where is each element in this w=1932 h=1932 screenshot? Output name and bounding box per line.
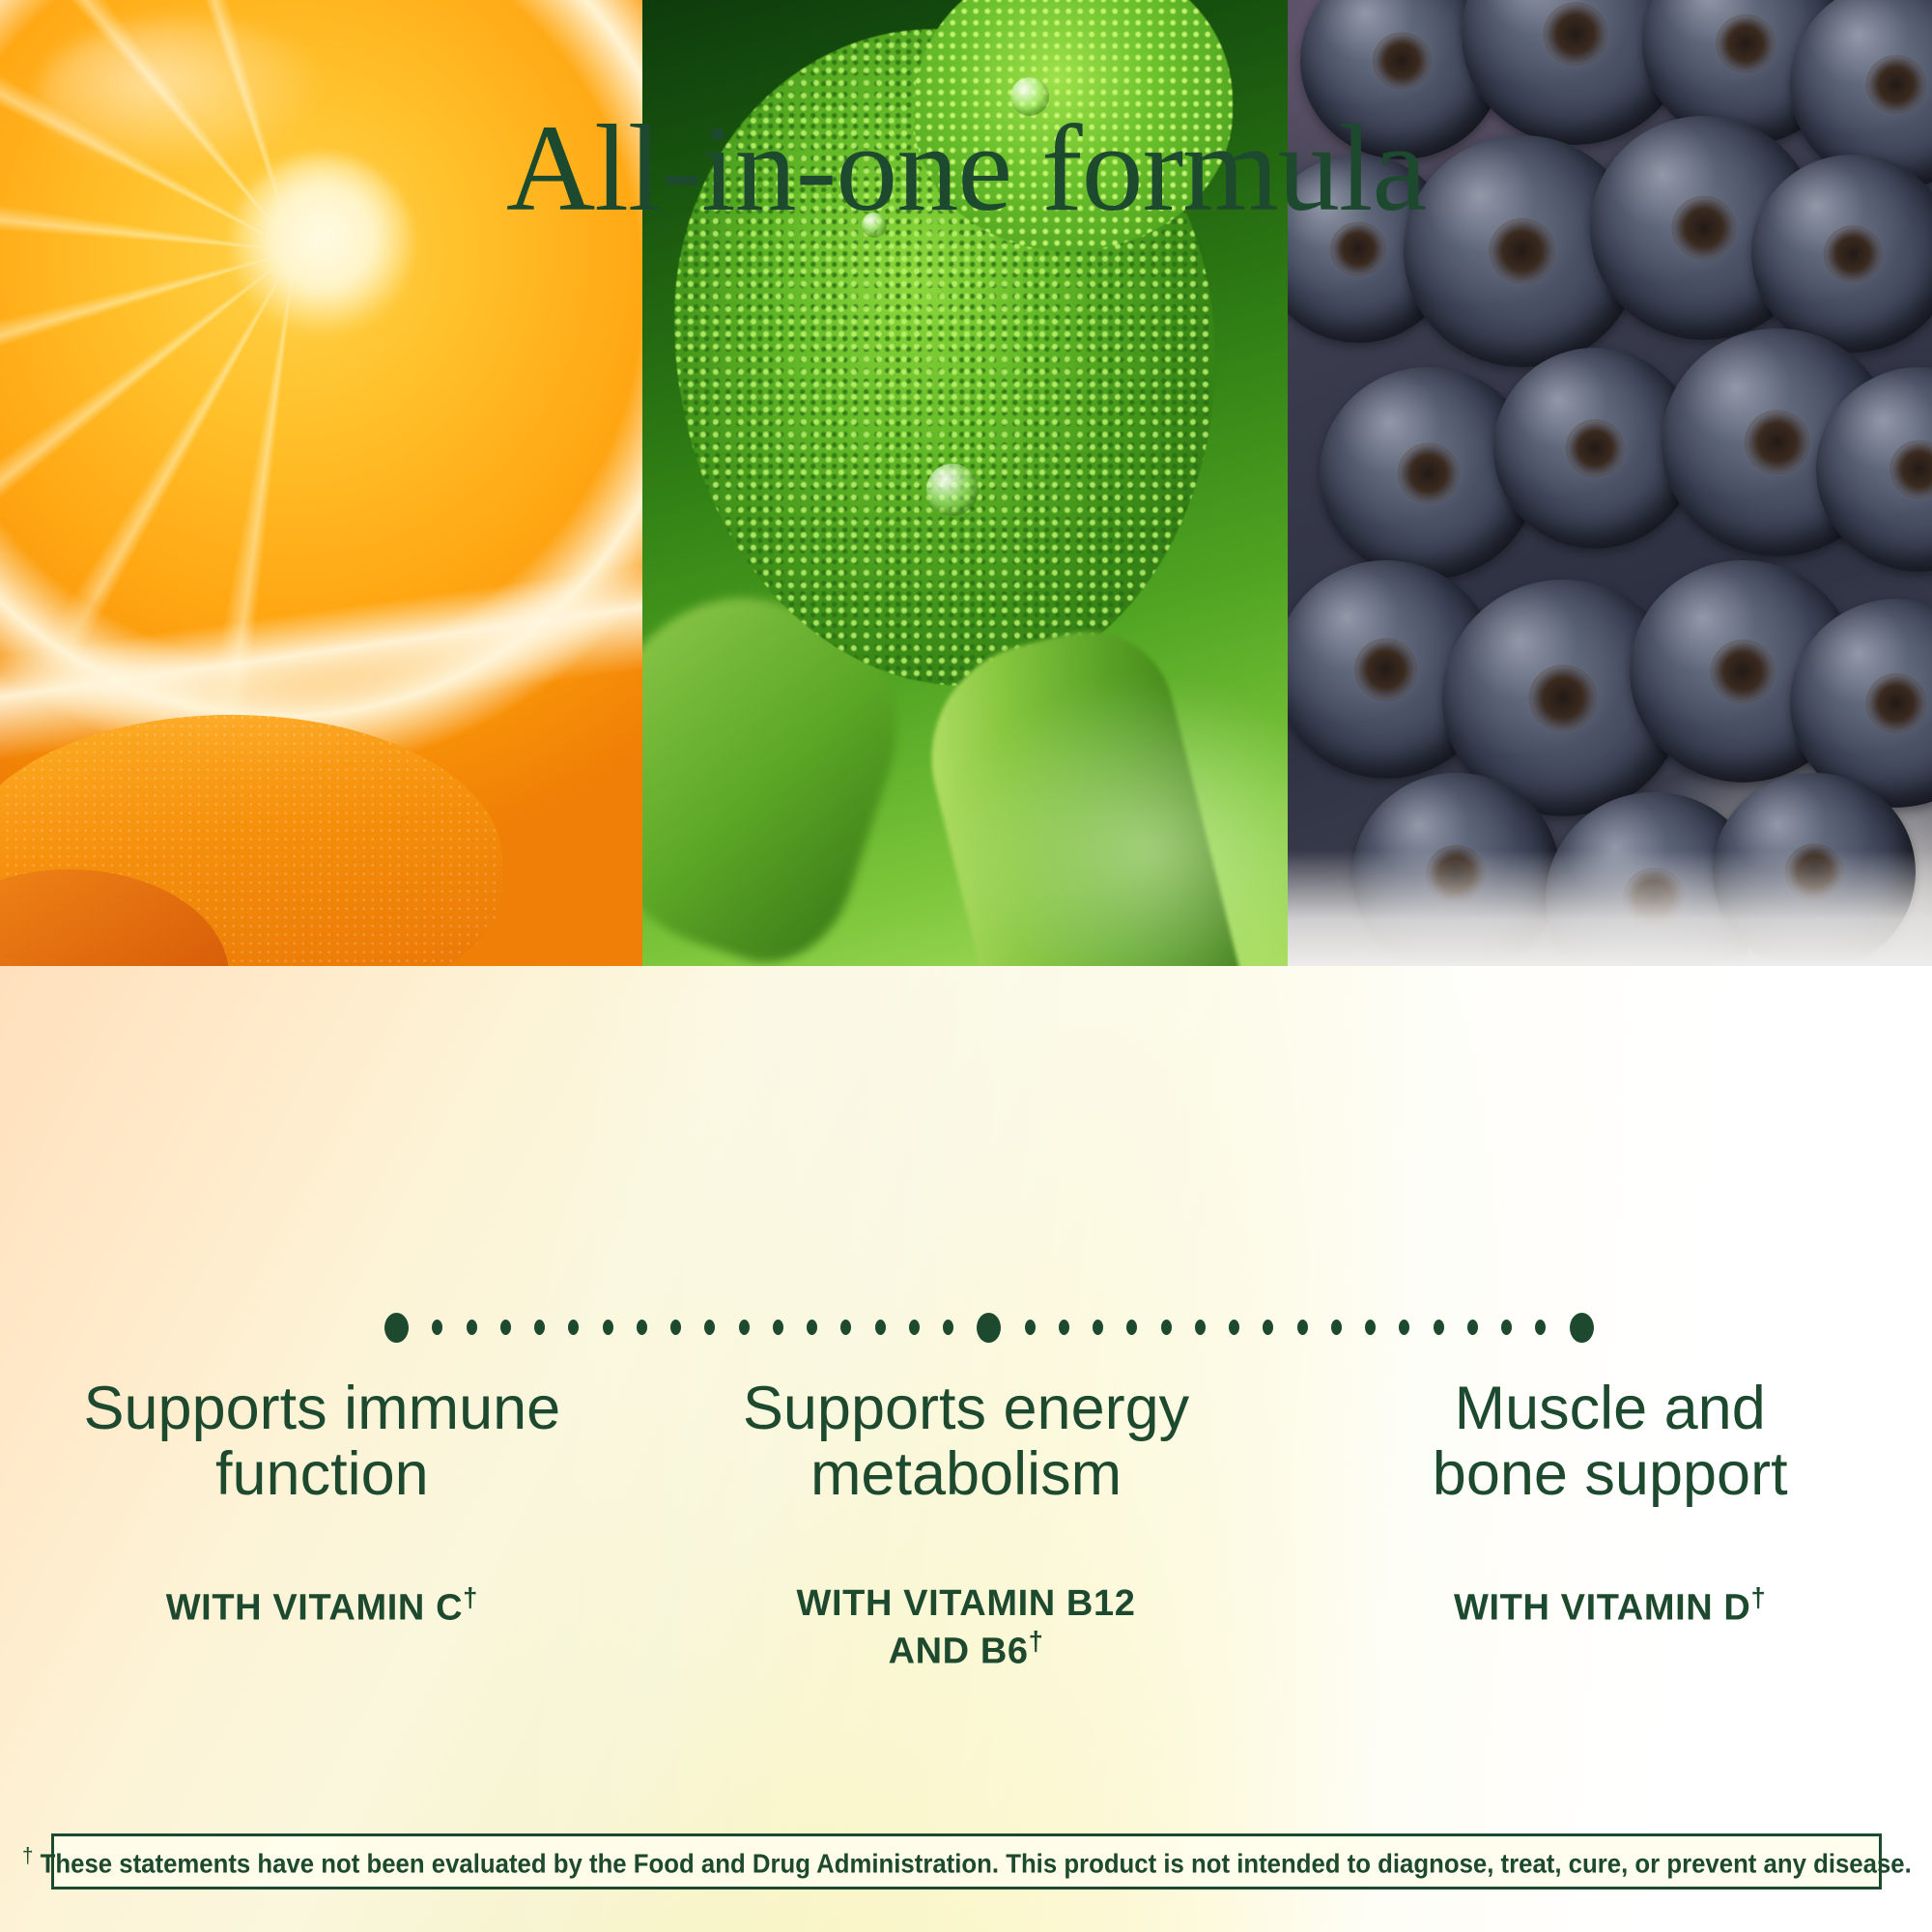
- benefit-column-energy: Supports energy metabolism WITH VITAMIN …: [644, 1376, 1289, 1675]
- divider-dot-small: [704, 1320, 715, 1335]
- divider-dot-small: [807, 1320, 817, 1335]
- divider-dot-small: [875, 1320, 886, 1335]
- divider-dot-small: [568, 1320, 579, 1335]
- benefit-columns: Supports immune function WITH VITAMIN C†…: [0, 1376, 1932, 1675]
- benefit-subtitle: WITH VITAMIN B12 AND B6†: [669, 1538, 1264, 1674]
- divider-dot-small: [1195, 1320, 1206, 1335]
- fda-disclaimer-text: † These statements have not been evaluat…: [22, 1845, 1912, 1877]
- divider-dot-small: [1059, 1320, 1069, 1335]
- divider-dot-small: [1467, 1320, 1478, 1335]
- divider-dot-small: [1297, 1320, 1308, 1335]
- divider-dot-small: [943, 1320, 953, 1335]
- divider-dot-small: [637, 1320, 647, 1335]
- benefit-subtitle: WITH VITAMIN D†: [1313, 1538, 1907, 1631]
- benefit-subtitle-text: WITH VITAMIN D: [1454, 1587, 1750, 1628]
- divider-dot-small: [1161, 1320, 1172, 1335]
- divider-dot-small: [603, 1320, 613, 1335]
- benefit-subtitle-text: WITH VITAMIN C: [166, 1587, 463, 1628]
- benefit-column-muscle-bone: Muscle and bone support WITH VITAMIN D†: [1288, 1376, 1932, 1675]
- divider-dot-small: [1434, 1320, 1444, 1335]
- benefit-title: Supports energy metabolism: [669, 1376, 1264, 1507]
- divider-dot-large: [977, 1313, 1001, 1343]
- benefit-title: Muscle and bone support: [1313, 1376, 1907, 1507]
- divider-dot-small: [909, 1320, 920, 1335]
- fda-disclaimer-sentence: These statements have not been evaluated…: [40, 1849, 1911, 1879]
- divider-dot-small: [739, 1320, 750, 1335]
- divider-dot-small: [1025, 1320, 1036, 1335]
- divider-dot-small: [1331, 1320, 1342, 1335]
- divider-dot-small: [1263, 1320, 1273, 1335]
- benefit-subtitle: WITH VITAMIN C†: [25, 1538, 619, 1631]
- divider-dot-small: [1399, 1320, 1409, 1335]
- divider-dot-small: [534, 1320, 545, 1335]
- divider-dot-small: [1093, 1320, 1103, 1335]
- product-benefits-graphic: All-in-one formula Supports immune funct…: [0, 0, 1932, 1932]
- benefit-title: Supports immune function: [25, 1376, 619, 1507]
- divider-dot-small: [1126, 1320, 1137, 1335]
- divider-dot-large: [1570, 1313, 1594, 1343]
- divider-dot-small: [432, 1320, 442, 1335]
- blueberry-surface: [1288, 850, 1932, 966]
- divider-dot-small: [670, 1320, 681, 1335]
- dagger-symbol: †: [1029, 1626, 1044, 1656]
- divider-dot-small: [840, 1320, 851, 1335]
- fda-disclaimer-box: † These statements have not been evaluat…: [51, 1833, 1882, 1889]
- divider-dot-small: [467, 1320, 477, 1335]
- divider-dot-large: [384, 1313, 409, 1343]
- divider-dot-small: [773, 1320, 783, 1335]
- benefit-column-immune: Supports immune function WITH VITAMIN C†: [0, 1376, 644, 1675]
- water-droplet-icon: [926, 464, 979, 516]
- benefit-subtitle-text: WITH VITAMIN B12 AND B6: [797, 1583, 1136, 1672]
- dotted-divider: [384, 1310, 1594, 1345]
- dagger-symbol: †: [463, 1582, 478, 1612]
- page-title: All-in-one formula: [0, 106, 1932, 230]
- divider-dot-small: [1535, 1320, 1546, 1335]
- divider-dot-small: [500, 1320, 511, 1335]
- divider-dot-small: [1501, 1320, 1512, 1335]
- divider-dot-small: [1365, 1320, 1376, 1335]
- dagger-symbol: †: [1750, 1582, 1766, 1612]
- dagger-symbol: †: [22, 1843, 33, 1867]
- divider-dot-small: [1229, 1320, 1239, 1335]
